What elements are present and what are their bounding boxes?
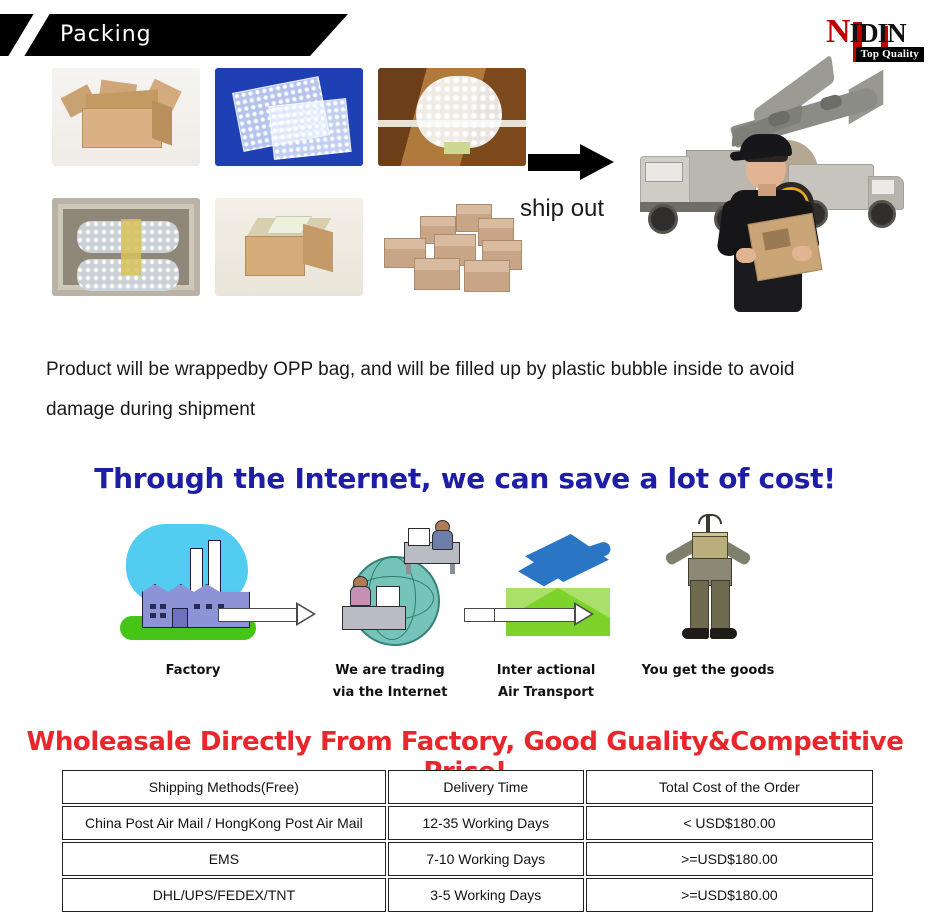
flow-caption-trading-line1: We are trading [310,660,470,682]
packing-description: Product will be wrappedby OPP bag, and w… [46,350,896,430]
factory-door [172,608,188,628]
courier-delivery-scene [620,64,908,314]
trader-body [350,586,371,606]
stack-carton-8 [464,260,510,292]
ship-out-arrow-icon [528,144,614,180]
upper-trader-person [432,520,450,546]
brand-logo: NIDIN Top Quality [826,18,924,62]
arrow-shaft [494,608,578,622]
courier-neck [758,184,776,196]
photo-carton-stack [378,198,528,296]
courier-hand-right [792,246,812,261]
trader-body [432,530,453,550]
logo-letter-n: N [826,18,850,46]
arrow-shaft [218,608,300,622]
factory-window-5 [194,604,200,609]
table-row: DHL/UPS/FEDEX/TNT 3-5 Working Days >=USD… [62,878,873,912]
carton-front-panel [82,108,162,148]
flow-arrow-factory-to-trading [218,602,316,626]
cell-shipping-method: EMS [62,842,386,876]
flow-caption-trading: We are trading via the Internet [310,660,470,704]
internet-savings-headline: Through the Internet, we can save a lot … [0,462,930,495]
bubble-sheet-lower [268,98,351,160]
flow-caption-air-line1: Inter actional [466,660,626,682]
arrow-head-inner [576,605,591,623]
van-wheel-front [868,200,896,228]
photo-bubble-wrap-sheets [215,68,363,166]
upper-monitor [408,528,430,546]
photo-bubble-bag-in-carton [378,68,526,166]
box-hook-handle [698,514,722,524]
process-flow-diagram: Factory We are [0,510,930,710]
header-banner-shape [0,14,348,56]
logo-wordmark: NIDIN [826,18,906,48]
cell-total-cost: >=USD$180.00 [586,878,873,912]
arrow-shaft [528,154,584,171]
lower-desk [342,606,406,630]
packing-description-line-1: Product will be wrappedby OPP bag, and w… [46,350,896,390]
column-header-total-cost: Total Cost of the Order [586,770,873,804]
parcel-shipping-label [762,228,791,250]
yellow-tape-strip [121,219,141,275]
lower-trader-person [350,576,370,606]
van-windshield [872,180,894,194]
courier-hand-left [736,248,756,263]
globe-traders-icon [330,520,470,646]
flow-caption-customer: You get the goods [628,660,788,682]
factory-window-1 [150,604,156,609]
flow-caption-factory-line1: Factory [113,660,273,682]
column-header-shipping-methods: Shipping Methods(Free) [62,770,386,804]
cell-shipping-method: China Post Air Mail / HongKong Post Air … [62,806,386,840]
photo-bagged-products-in-box [52,198,200,296]
airplane-envelope-icon [500,528,630,644]
carton-side-panel [152,100,172,145]
stack-carton-7 [414,258,460,290]
factory-window-2 [160,604,166,609]
lower-monitor [376,586,400,608]
cell-shipping-method: DHL/UPS/FEDEX/TNT [62,878,386,912]
person-shoe-left [682,628,709,639]
person-with-box-icon [662,514,754,648]
table-row: China Post Air Mail / HongKong Post Air … [62,806,873,840]
factory-window-6 [206,604,212,609]
person-shoe-right [710,628,737,639]
flow-caption-customer-line1: You get the goods [628,660,788,682]
factory-chimney-2 [208,540,221,594]
flow-caption-air-transport: Inter actional Air Transport [466,660,626,704]
logo-tagline: Top Quality [856,47,924,62]
packing-photo-gallery [52,68,552,316]
cell-delivery-time: 7-10 Working Days [388,842,584,876]
factory-window-4 [160,613,166,618]
truck-windshield [645,162,683,182]
truck-wheel-front [648,204,678,234]
table-body: China Post Air Mail / HongKong Post Air … [62,806,873,912]
cell-delivery-time: 12-35 Working Days [388,806,584,840]
ship-out-label: ship out [520,195,604,223]
table-header: Shipping Methods(Free) Delivery Time Tot… [62,770,873,804]
person-leg-left [690,580,709,634]
photo-sealed-carton-box [215,198,363,296]
packing-description-line-2: damage during shipment [46,390,896,430]
cell-delivery-time: 3-5 Working Days [388,878,584,912]
sealed-carton-front [245,236,305,276]
shipping-methods-table: Shipping Methods(Free) Delivery Time Tot… [60,768,875,914]
table-header-row: Shipping Methods(Free) Delivery Time Tot… [62,770,873,804]
bubble-bag [416,76,502,148]
table-row: EMS 7-10 Working Days >=USD$180.00 [62,842,873,876]
courier-man-with-parcel [712,134,830,314]
page-title: Packing [60,22,152,47]
cell-total-cost: < USD$180.00 [586,806,873,840]
flow-caption-factory: Factory [113,660,273,682]
person-leg-right [711,580,730,634]
flow-arrow-air-to-customer [494,602,594,626]
bag-label-sticker [444,142,470,154]
cell-total-cost: >=USD$180.00 [586,842,873,876]
column-header-delivery-time: Delivery Time [388,770,584,804]
factory-window-3 [150,613,156,618]
sealed-carton-side [303,224,333,273]
flow-caption-trading-line2: via the Internet [310,682,470,704]
factory-chimney-1 [190,548,203,594]
arrow-head [580,144,614,180]
logo-letters-rest: IDIN [850,18,906,48]
courier-parcel-box [747,213,822,282]
photo-open-carton-box [52,68,200,166]
arrow-head-inner [298,605,313,623]
flow-caption-air-line2: Air Transport [466,682,626,704]
factory-icon [120,524,270,644]
inner-box [58,204,194,290]
page-header: Packing NIDIN Top Quality [0,0,930,62]
